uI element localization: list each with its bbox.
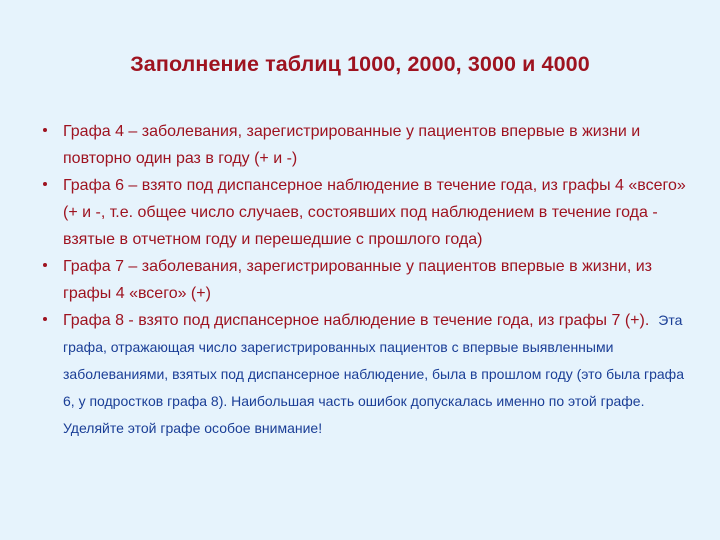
- bullet-dot-icon: [43, 317, 47, 321]
- bullet-text-grafa-6: Графа 6 – взято под диспансерное наблюде…: [63, 172, 686, 253]
- bullet-text-grafa-4: Графа 4 – заболевания, зарегистрированны…: [63, 118, 686, 172]
- list-item: Графа 7 – заболевания, зарегистрированны…: [38, 253, 686, 307]
- bullet-dot-icon: [43, 182, 47, 186]
- bullet-dot-icon: [43, 263, 47, 267]
- bullet-list: Графа 4 – заболевания, зарегистрированны…: [38, 118, 686, 442]
- bullet-text-grafa-7: Графа 7 – заболевания, зарегистрированны…: [63, 253, 686, 307]
- bullet-text-grafa-8: Графа 8 - взято под диспансерное наблюде…: [63, 307, 686, 442]
- bullet-text-grafa-8-main: Графа 8 - взято под диспансерное наблюде…: [63, 312, 649, 329]
- bullet-dot-icon: [43, 128, 47, 132]
- page-title: Заполнение таблиц 1000, 2000, 3000 и 400…: [40, 50, 680, 78]
- slide-canvas: Заполнение таблиц 1000, 2000, 3000 и 400…: [0, 0, 720, 540]
- list-item: Графа 8 - взято под диспансерное наблюде…: [38, 307, 686, 442]
- bullet-note-grafa-8: Эта графа, отражающая число зарегистриро…: [63, 312, 684, 436]
- list-item: Графа 6 – взято под диспансерное наблюде…: [38, 172, 686, 253]
- slide-body: Графа 4 – заболевания, зарегистрированны…: [38, 118, 686, 442]
- list-item: Графа 4 – заболевания, зарегистрированны…: [38, 118, 686, 172]
